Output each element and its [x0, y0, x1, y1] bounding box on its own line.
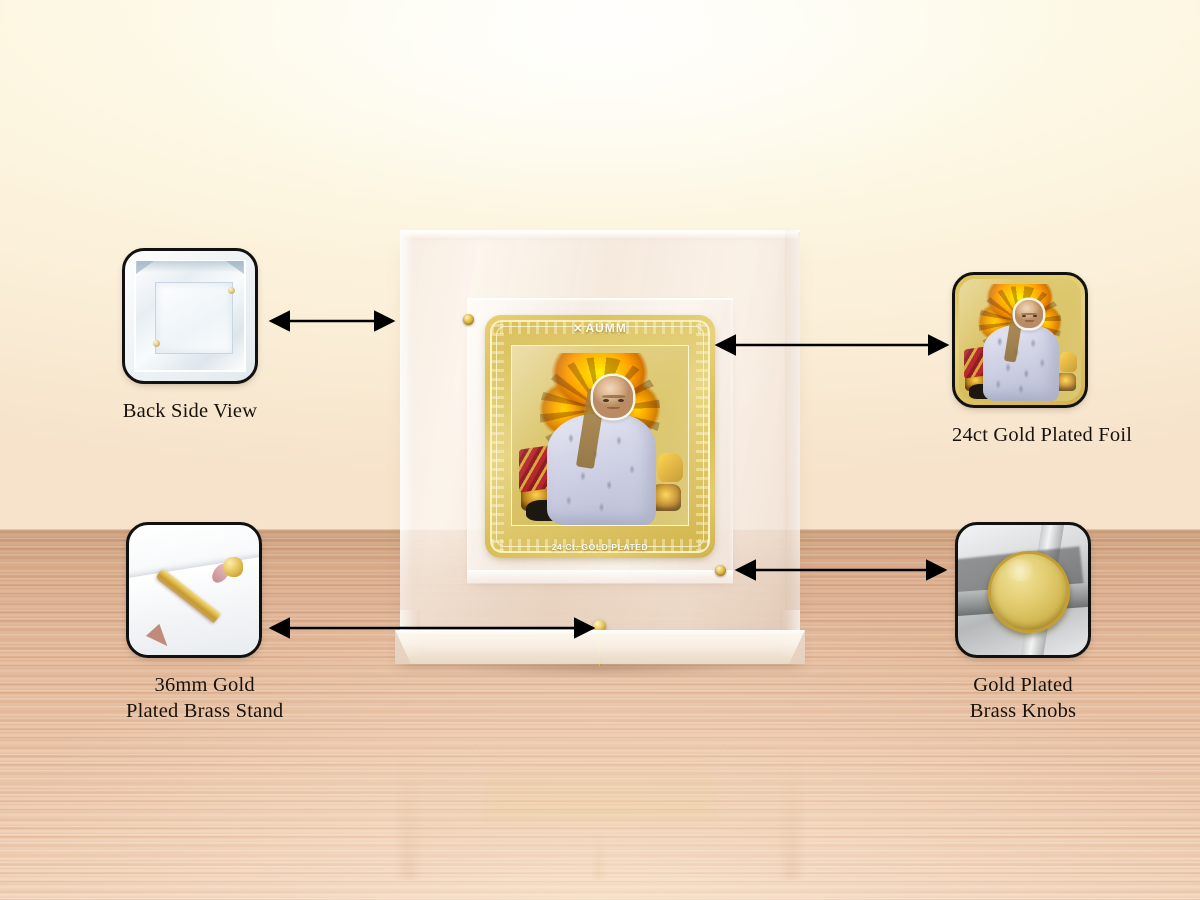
foil-caption: 24 Ct. GOLD PLATED — [485, 542, 715, 552]
bevel-top-band — [137, 261, 243, 272]
guru-head-thumb — [1015, 300, 1043, 328]
brand-mark-icon: ✕ — [573, 322, 583, 335]
gold-plated-foil[interactable]: ✕AUMM — [485, 315, 715, 558]
callout-brass-stand[interactable]: 36mm Gold Plated Brass Stand — [126, 522, 283, 724]
throne-armrest — [658, 453, 683, 482]
brass-pin-head — [223, 557, 243, 577]
robe-print-pattern — [547, 414, 656, 525]
face-eye-right — [618, 399, 624, 402]
arrow-gold-plated-foil — [708, 335, 956, 355]
arrow-brass-knobs — [728, 560, 954, 580]
face-brow — [602, 395, 625, 398]
foil-brand-name: ✕AUMM — [485, 321, 715, 335]
back-side-view-thumbnail[interactable] — [122, 248, 258, 384]
face-eye-left — [603, 399, 609, 402]
reflection-right-edge — [783, 730, 799, 880]
acrylic-photo-frame-product[interactable]: ✕AUMM — [395, 230, 805, 680]
throne-armrest-thumb — [1060, 352, 1077, 372]
product-floor-reflection — [395, 680, 805, 880]
white-robe-thumb — [983, 325, 1059, 401]
guru-portrait-illustration-thumb — [959, 279, 1081, 401]
back-plate-screw-top-right — [228, 287, 235, 294]
callout-gold-plated-foil[interactable]: 24ct Gold Plated Foil — [952, 272, 1132, 448]
reflection-gold-foil — [485, 700, 715, 820]
callout-label-brass-knobs: Gold Plated Brass Knobs — [955, 672, 1091, 724]
callout-label-back-side-view: Back Side View — [122, 398, 258, 424]
back-plate-screw-bottom-left — [153, 340, 160, 347]
brass-knob-highlight — [1002, 559, 1038, 581]
callout-brass-knobs[interactable]: Gold Plated Brass Knobs — [955, 522, 1091, 724]
arrow-back-side-view — [262, 311, 402, 331]
callout-back-side-view[interactable]: Back Side View — [122, 248, 258, 424]
inner-panel-bottom-bevel — [467, 570, 733, 584]
face-mouth-thumb — [1025, 320, 1034, 322]
callout-label-gold-plated-foil: 24ct Gold Plated Foil — [952, 422, 1132, 448]
foil-artwork-area — [511, 345, 689, 526]
brand-text: AUMM — [585, 321, 626, 335]
reflection-left-edge — [401, 730, 417, 880]
callout-label-brass-stand: 36mm Gold Plated Brass Stand — [126, 672, 283, 724]
arrow-brass-stand — [262, 618, 602, 638]
acrylic-top-bevel — [402, 232, 798, 240]
reflection-stand-stem — [597, 820, 601, 880]
brass-knobs-thumbnail[interactable] — [955, 522, 1091, 658]
foil-thumbnail-artwork — [959, 279, 1081, 401]
guru-portrait-illustration — [512, 346, 688, 525]
face-eye-right-thumb — [1033, 315, 1037, 317]
white-robe — [547, 414, 656, 525]
face-mouth — [607, 407, 620, 409]
gold-plated-foil-thumbnail[interactable] — [952, 272, 1088, 408]
brass-knob-bottom-right[interactable] — [715, 565, 726, 576]
back-plate — [155, 282, 233, 354]
base-right-chamfer — [789, 630, 805, 664]
guru-head — [593, 376, 633, 417]
brass-knob-top-left[interactable] — [463, 314, 474, 325]
face-eye-left-thumb — [1022, 315, 1026, 317]
product-infographic-scene: ✕AUMM — [0, 0, 1200, 900]
brass-stand-thumbnail[interactable] — [126, 522, 262, 658]
robe-print-pattern-thumb — [983, 325, 1059, 401]
